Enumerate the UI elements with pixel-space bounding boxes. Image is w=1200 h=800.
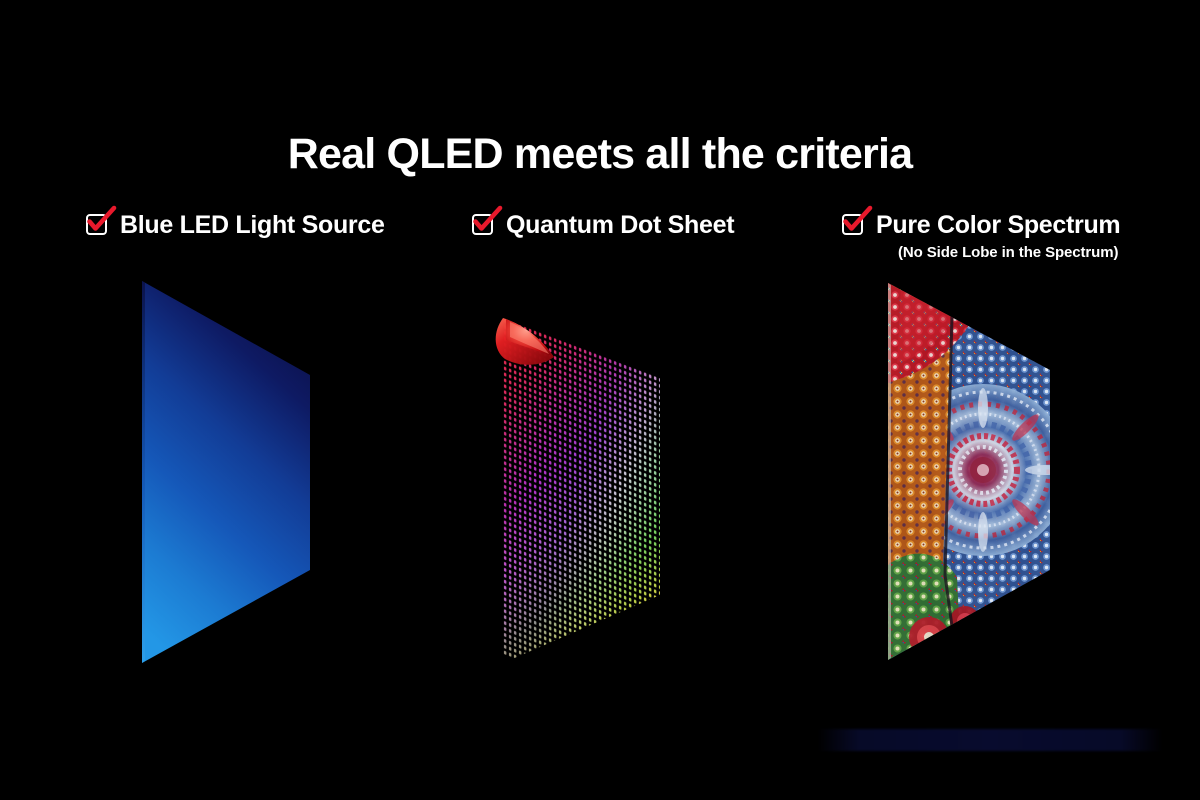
quantum-dot-sheet-illustration — [480, 295, 700, 695]
criterion-pure-color-spectrum: Pure Color Spectrum (No Side Lobe in the… — [842, 208, 1120, 262]
checkbox-checked-icon[interactable] — [86, 214, 111, 239]
checkbox-checked-icon[interactable] — [842, 214, 867, 239]
checkbox-box — [86, 214, 107, 235]
criterion-text-column: Quantum Dot Sheet — [506, 208, 734, 242]
criterion-quantum-dot-sheet: Quantum Dot Sheet — [472, 208, 734, 242]
criterion-subtitle: (No Side Lobe in the Spectrum) — [898, 243, 1118, 262]
checkbox-box — [842, 214, 863, 235]
criterion-label: Quantum Dot Sheet — [506, 208, 734, 242]
criterion-text-column: Pure Color Spectrum (No Side Lobe in the… — [876, 208, 1120, 262]
slide-canvas: Real QLED meets all the criteria Blue LE… — [0, 0, 1200, 800]
checkbox-checked-icon[interactable] — [472, 214, 497, 239]
criterion-text-column: Blue LED Light Source — [120, 208, 385, 242]
criterion-label: Pure Color Spectrum — [876, 208, 1120, 242]
checkbox-box — [472, 214, 493, 235]
pure-color-spectrum-illustration — [865, 265, 1085, 685]
criterion-label: Blue LED Light Source — [120, 208, 385, 242]
blue-led-panel-illustration — [120, 265, 340, 685]
page-title: Real QLED meets all the criteria — [0, 128, 1200, 180]
bottom-glow-band — [818, 729, 1162, 751]
criterion-blue-led-light-source: Blue LED Light Source — [86, 208, 385, 242]
